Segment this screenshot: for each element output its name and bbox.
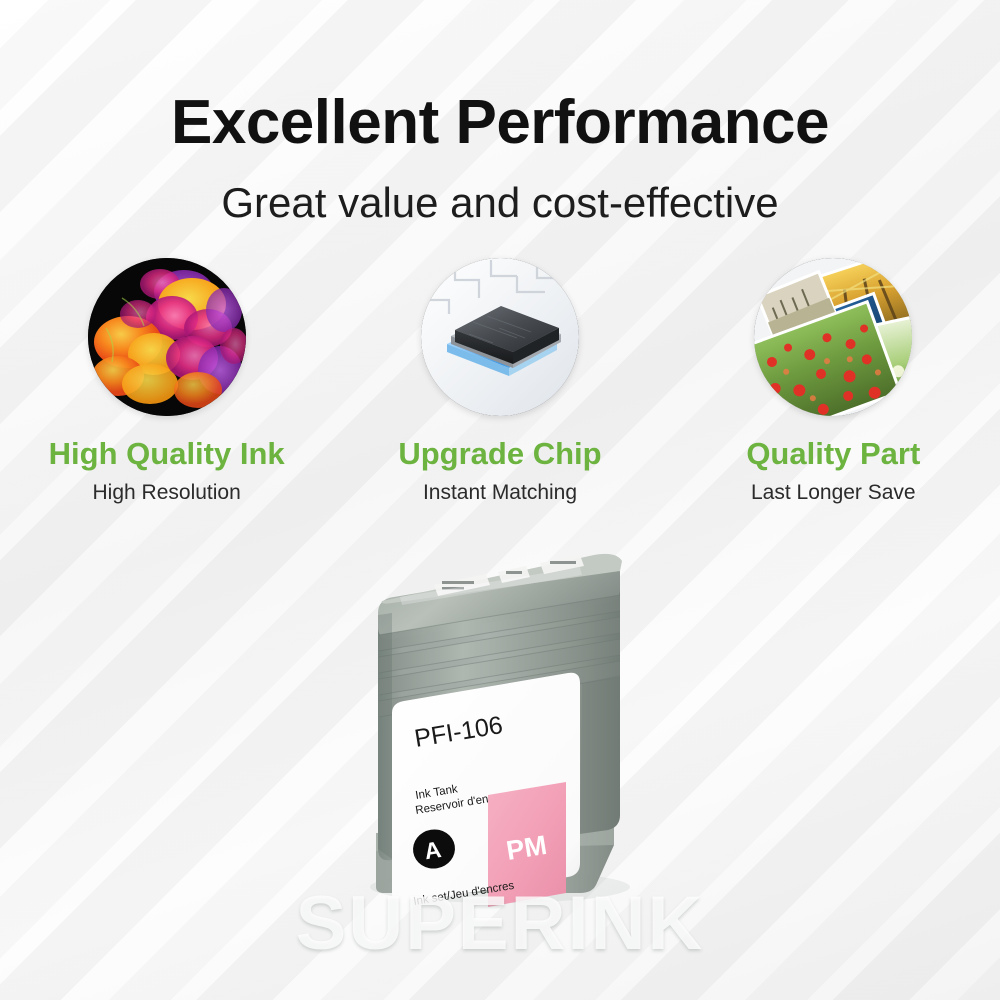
swatch-label: PM: [504, 830, 549, 866]
feature-subtitle: High Resolution: [93, 482, 241, 503]
feature-subtitle: Instant Matching: [423, 482, 577, 503]
feature-item-quality-part: Quality Part Last Longer Save: [683, 258, 983, 503]
product-image-ink-cartridge: PFI-106 Ink Tank Reservoir d'encre PM A …: [330, 515, 670, 915]
feature-title: Upgrade Chip: [398, 438, 601, 469]
cartridge-label: PFI-106 Ink Tank Reservoir d'encre PM A …: [392, 673, 580, 908]
product-infographic-image: Excellent Performance Great value and co…: [0, 0, 1000, 1000]
feature-subtitle: Last Longer Save: [751, 482, 916, 503]
feature-row: High Quality Ink High Resolution: [0, 258, 1000, 523]
feature-item-upgrade-chip: Upgrade Chip Instant Matching: [350, 258, 650, 503]
feature-title: High Quality Ink: [49, 438, 285, 469]
chip-photo-icon: [421, 258, 579, 416]
page-title: Excellent Performance: [0, 92, 1000, 154]
ink-swirl-photo-icon: [88, 258, 246, 416]
page-subtitle: Great value and cost-effective: [0, 180, 1000, 226]
feature-item-high-quality-ink: High Quality Ink High Resolution: [17, 258, 317, 503]
printed-photos-photo-icon: [754, 258, 912, 416]
feature-title: Quality Part: [746, 438, 920, 469]
